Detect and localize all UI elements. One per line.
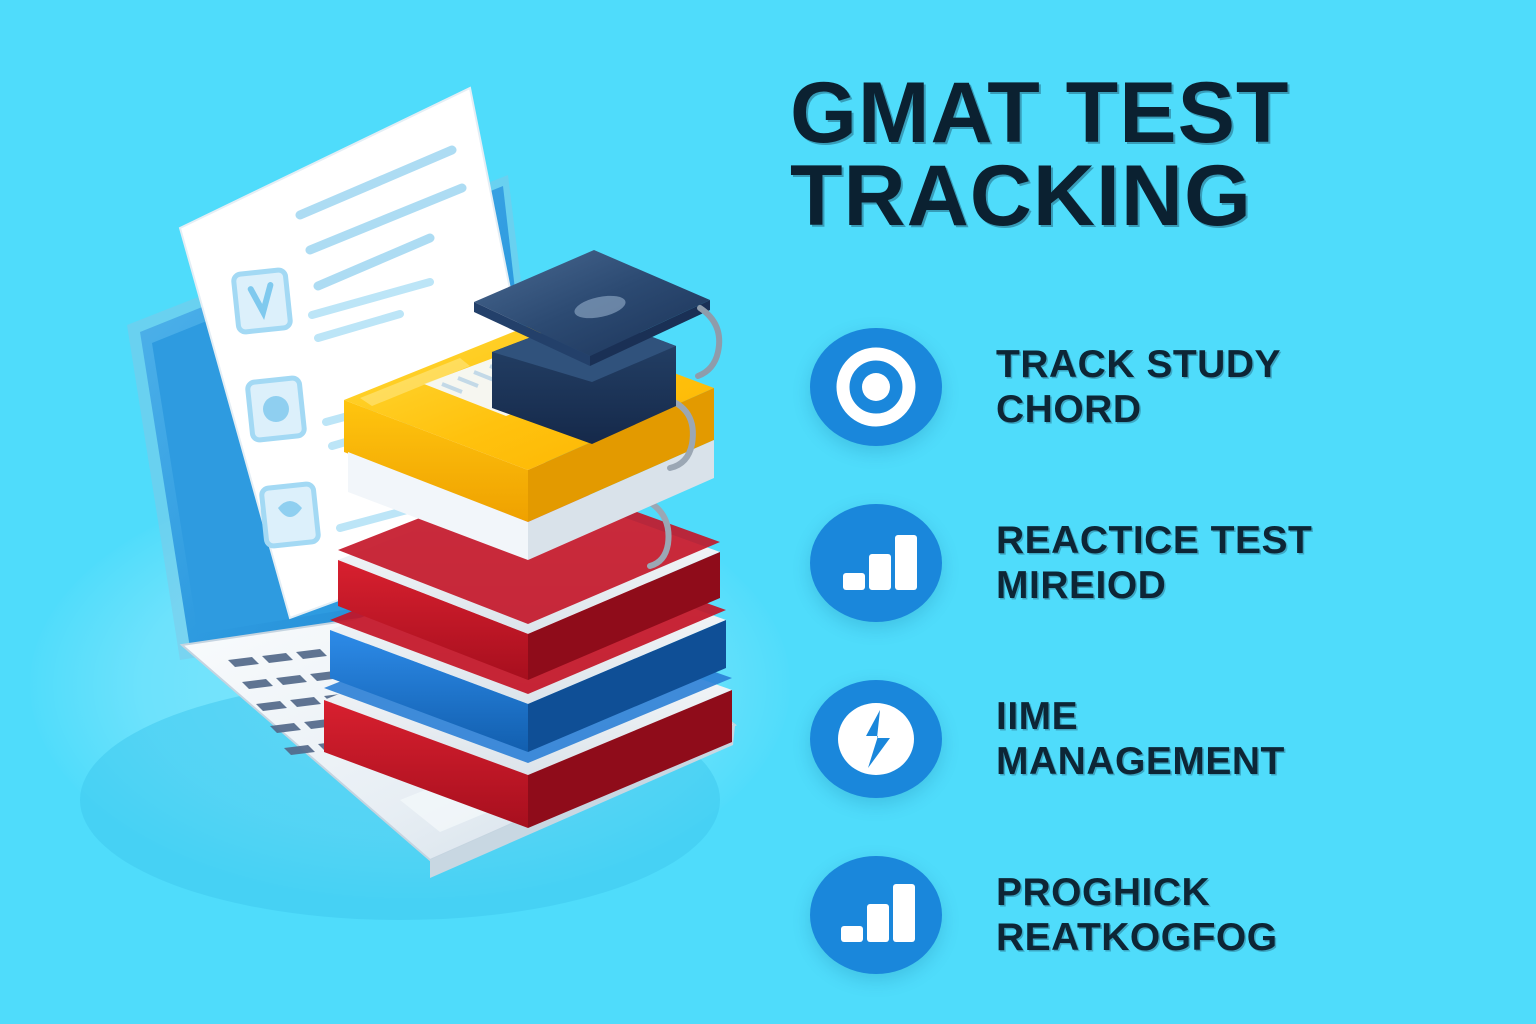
feature-icon-wrap-1 — [810, 328, 942, 446]
feature-item-practice-test[interactable]: REACTICE TEST MIREIOD — [786, 475, 1486, 651]
feature-item-track-study[interactable]: TRACK STUDY CHORD — [786, 299, 1486, 475]
feature-list: TRACK STUDY CHORD REACTICE TEST MIREIOD — [786, 299, 1486, 1003]
feature-item-progress-tracking[interactable]: PROGHICK REATKOGFOG — [786, 827, 1486, 1003]
bar-chart-icon — [810, 504, 942, 622]
clock-lightning-icon — [810, 680, 942, 798]
feature-label-1: TRACK STUDY CHORD — [996, 342, 1281, 432]
poster-canvas: GMAT TEST TRACKING TRACK STUDY CHORD — [0, 0, 1536, 1024]
content-column: GMAT TEST TRACKING TRACK STUDY CHORD — [786, 72, 1486, 1024]
feature-icon-wrap-3 — [810, 680, 942, 798]
illustration-laptop-books — [0, 0, 800, 1024]
page-title: GMAT TEST TRACKING — [786, 72, 1486, 237]
bar-chart-icon — [810, 856, 942, 974]
feature-label-4: PROGHICK REATKOGFOG — [996, 870, 1278, 960]
feature-icon-wrap-2 — [810, 504, 942, 622]
feature-label-2: REACTICE TEST MIREIOD — [996, 518, 1312, 608]
target-icon — [810, 328, 942, 446]
feature-icon-wrap-4 — [810, 856, 942, 974]
feature-item-time-management[interactable]: IIME MANAGEMENT — [786, 651, 1486, 827]
feature-label-3: IIME MANAGEMENT — [996, 694, 1285, 784]
